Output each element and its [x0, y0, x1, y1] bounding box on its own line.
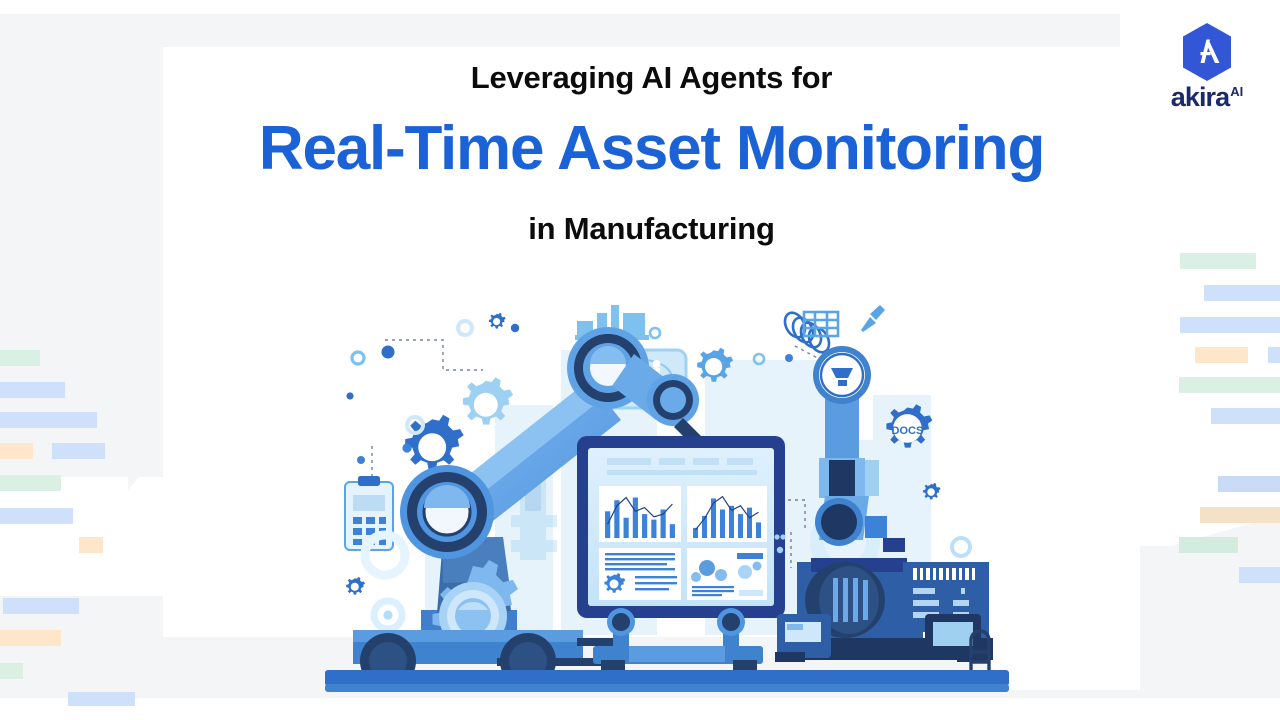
decorative-bar [79, 537, 103, 553]
decorative-bar [0, 350, 40, 366]
conveyor-rail [325, 670, 1009, 692]
decorative-bar [1179, 377, 1280, 393]
chart-bar [720, 509, 725, 538]
chart-bar [624, 518, 629, 538]
decorative-bar [1179, 537, 1238, 553]
chart-bar [651, 520, 656, 538]
chart-bar [633, 498, 638, 538]
coil-icon [781, 309, 833, 355]
decorative-bar [0, 663, 23, 679]
chart-bar [605, 511, 610, 538]
slide-canvas: Leveraging AI Agents for Real-Time Asset… [0, 0, 1280, 720]
decorative-bar [1180, 317, 1280, 333]
headline-subtitle: in Manufacturing [163, 180, 1140, 244]
brand-suffix: AI [1230, 85, 1243, 98]
decorative-bar [1204, 285, 1280, 301]
chart-bar [670, 524, 675, 538]
decorative-bar [1211, 408, 1280, 424]
chart-bar [711, 498, 716, 538]
dashboard-report-panel [599, 548, 681, 600]
decorative-bar [0, 475, 61, 491]
decorative-bar [0, 443, 33, 459]
wrench-icon [861, 305, 885, 332]
chart-bar [756, 522, 761, 538]
background-panel-top [0, 14, 1120, 47]
dashboard-chart-left [599, 486, 681, 542]
brand-logo[interactable]: akira AI [1152, 22, 1262, 111]
dashboard-bubble-panel [687, 548, 767, 600]
decorative-bar [3, 598, 79, 614]
brand-name: akira [1171, 84, 1230, 111]
decorative-bar [1218, 476, 1280, 492]
decorative-bar [68, 692, 135, 706]
decorative-bar [1180, 253, 1256, 269]
smart-factory-illustration: DOCS [325, 300, 1015, 700]
decorative-bar [52, 443, 105, 459]
dashboard-chart-right [687, 486, 767, 542]
decorative-bar [1195, 347, 1248, 363]
akira-hexagon-logo-icon [1179, 22, 1235, 82]
headline-kicker: Leveraging AI Agents for [163, 52, 1140, 93]
chart-bar [642, 514, 647, 538]
decorative-bar [1268, 347, 1280, 363]
decorative-bar [0, 508, 73, 524]
headline-block: Leveraging AI Agents for Real-Time Asset… [163, 52, 1140, 244]
svg-text:DOCS: DOCS [892, 425, 924, 437]
page-title: Real-Time Asset Monitoring [163, 93, 1140, 180]
chart-bar [738, 514, 743, 538]
decorative-bar [1200, 507, 1280, 523]
chart-bar [747, 508, 752, 538]
decorative-bar [1239, 567, 1280, 583]
brand-wordmark: akira AI [1152, 84, 1262, 111]
decorative-bar [0, 412, 97, 428]
decorative-bar [0, 630, 61, 646]
decorative-bar [0, 382, 65, 398]
